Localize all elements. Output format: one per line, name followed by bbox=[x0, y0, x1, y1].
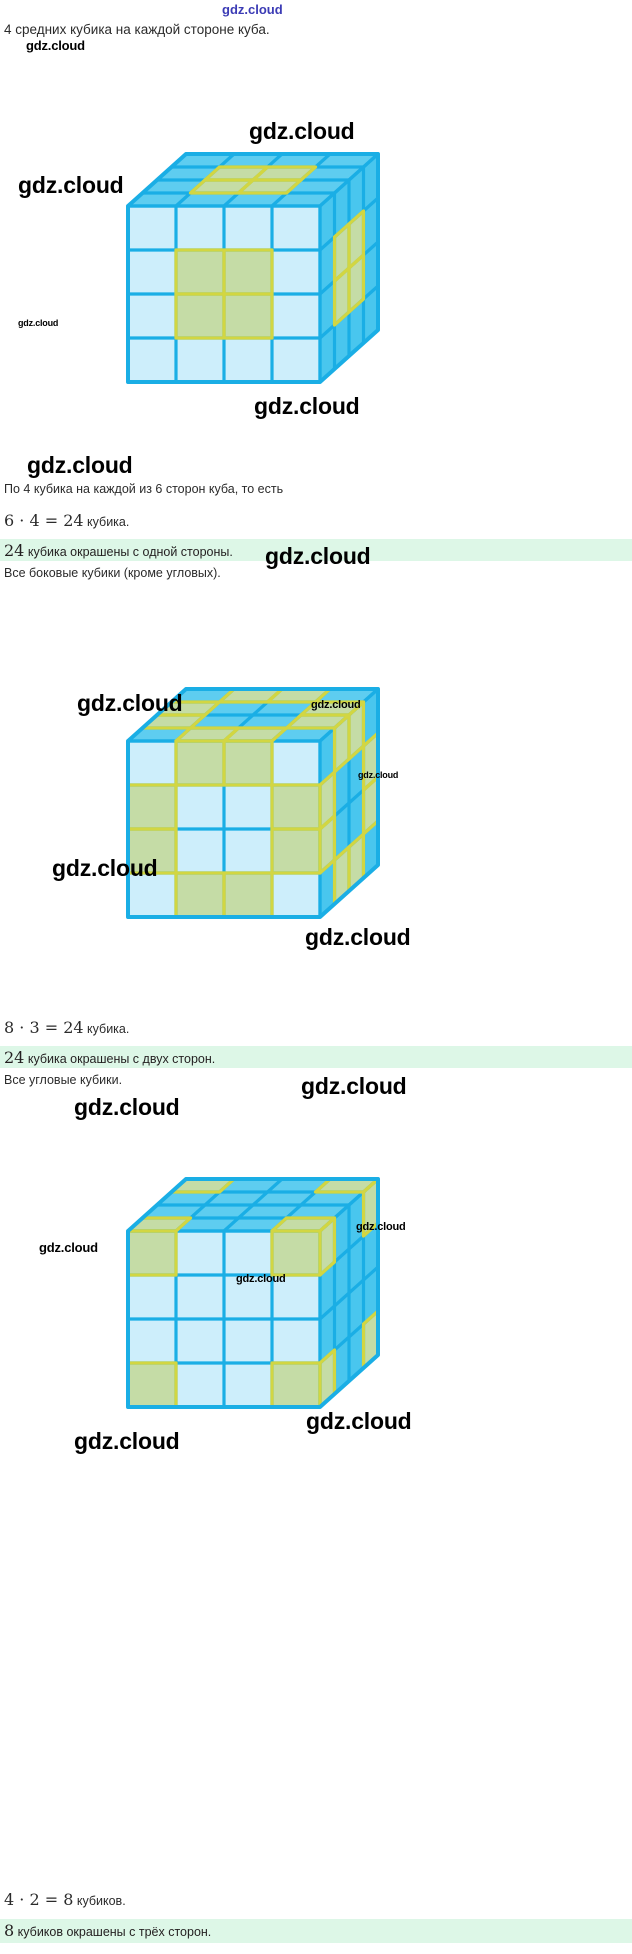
cube-cell bbox=[272, 1363, 320, 1407]
note-one-side: Все боковые кубики (кроме угловых). bbox=[4, 566, 221, 581]
intro-line: 4 средних кубика на каждой стороне куба. bbox=[4, 22, 270, 37]
cube-cell bbox=[272, 829, 320, 873]
watermark: gdz.cloud bbox=[222, 2, 283, 17]
explain-one-side-text: По 4 кубика на каждой из 6 сторон куба, … bbox=[4, 482, 283, 496]
formula-two-sides-unit: кубика. bbox=[84, 1022, 130, 1036]
answer-two-sides-num: 24 bbox=[4, 1048, 24, 1067]
answer-three-sides-highlight: 8 кубиков окрашены с трёх сторон. bbox=[0, 1919, 632, 1943]
watermark: gdz.cloud bbox=[27, 452, 133, 479]
formula-three-sides: 4 · 2 = 8 кубиков. bbox=[4, 1890, 126, 1909]
formula-two-sides-num: 8 · 3 = 24 bbox=[4, 1018, 84, 1037]
solution-page: 4 средних кубика на каждой стороне куба.… bbox=[0, 0, 632, 1954]
cube-cell bbox=[224, 873, 272, 917]
cube-cell bbox=[128, 785, 176, 829]
cube-three-sides-figure bbox=[110, 1170, 430, 1420]
cube-cell bbox=[176, 741, 224, 785]
cube-two-sides-figure bbox=[110, 680, 430, 930]
answer-three-sides-text: кубиков окрашены с трёх сторон. bbox=[14, 1925, 211, 1939]
answer-one-side-num: 24 bbox=[4, 541, 24, 560]
watermark: gdz.cloud bbox=[249, 118, 355, 145]
cube-cell bbox=[272, 785, 320, 829]
cube-cell bbox=[176, 873, 224, 917]
cube-cell bbox=[128, 1363, 176, 1407]
answer-one-side-highlight: 24 кубика окрашены с одной стороны. bbox=[0, 539, 632, 561]
cube-cell bbox=[224, 294, 272, 338]
formula-three-sides-num: 4 · 2 = 8 bbox=[4, 1890, 73, 1909]
answer-one-side-text: кубика окрашены с одной стороны. bbox=[24, 545, 233, 559]
formula-one-side-unit: кубика. bbox=[84, 515, 130, 529]
cube-one-side-svg bbox=[110, 145, 430, 395]
watermark: gdz.cloud bbox=[39, 1240, 98, 1255]
formula-two-sides: 8 · 3 = 24 кубика. bbox=[4, 1018, 129, 1037]
watermark: gdz.cloud bbox=[18, 318, 58, 328]
answer-three-sides-inner: 8 кубиков окрашены с трёх сторон. bbox=[4, 1921, 211, 1940]
watermark: gdz.cloud bbox=[74, 1428, 180, 1455]
watermark: gdz.cloud bbox=[18, 172, 124, 199]
watermark: gdz.cloud bbox=[74, 1094, 180, 1121]
cube-cell bbox=[128, 1231, 176, 1275]
answer-one-side-inner: 24 кубика окрашены с одной стороны. bbox=[4, 541, 233, 560]
formula-three-sides-unit: кубиков. bbox=[73, 1894, 125, 1908]
cube-one-side-figure bbox=[110, 145, 430, 395]
answer-two-sides-text: кубика окрашены с двух сторон. bbox=[24, 1052, 215, 1066]
explain-one-side: По 4 кубика на каждой из 6 сторон куба, … bbox=[4, 482, 283, 497]
answer-three-sides-num: 8 bbox=[4, 1921, 14, 1940]
answer-two-sides-highlight: 24 кубика окрашены с двух сторон. bbox=[0, 1046, 632, 1068]
formula-one-side-num: 6 · 4 = 24 bbox=[4, 511, 84, 530]
cube-cell bbox=[176, 294, 224, 338]
cube-two-sides-svg bbox=[110, 680, 430, 930]
watermark: gdz.cloud bbox=[26, 38, 85, 53]
cube-cell bbox=[128, 829, 176, 873]
cube-cell bbox=[224, 741, 272, 785]
answer-two-sides-inner: 24 кубика окрашены с двух сторон. bbox=[4, 1048, 215, 1067]
watermark: gdz.cloud bbox=[301, 1073, 407, 1100]
cube-cell bbox=[224, 250, 272, 294]
cube-cell bbox=[272, 1231, 320, 1275]
cube-three-sides-svg bbox=[110, 1170, 430, 1420]
watermark: gdz.cloud bbox=[254, 393, 360, 420]
note-two-sides: Все угловые кубики. bbox=[4, 1073, 122, 1088]
formula-one-side: 6 · 4 = 24 кубика. bbox=[4, 511, 129, 530]
cube-cell bbox=[176, 250, 224, 294]
